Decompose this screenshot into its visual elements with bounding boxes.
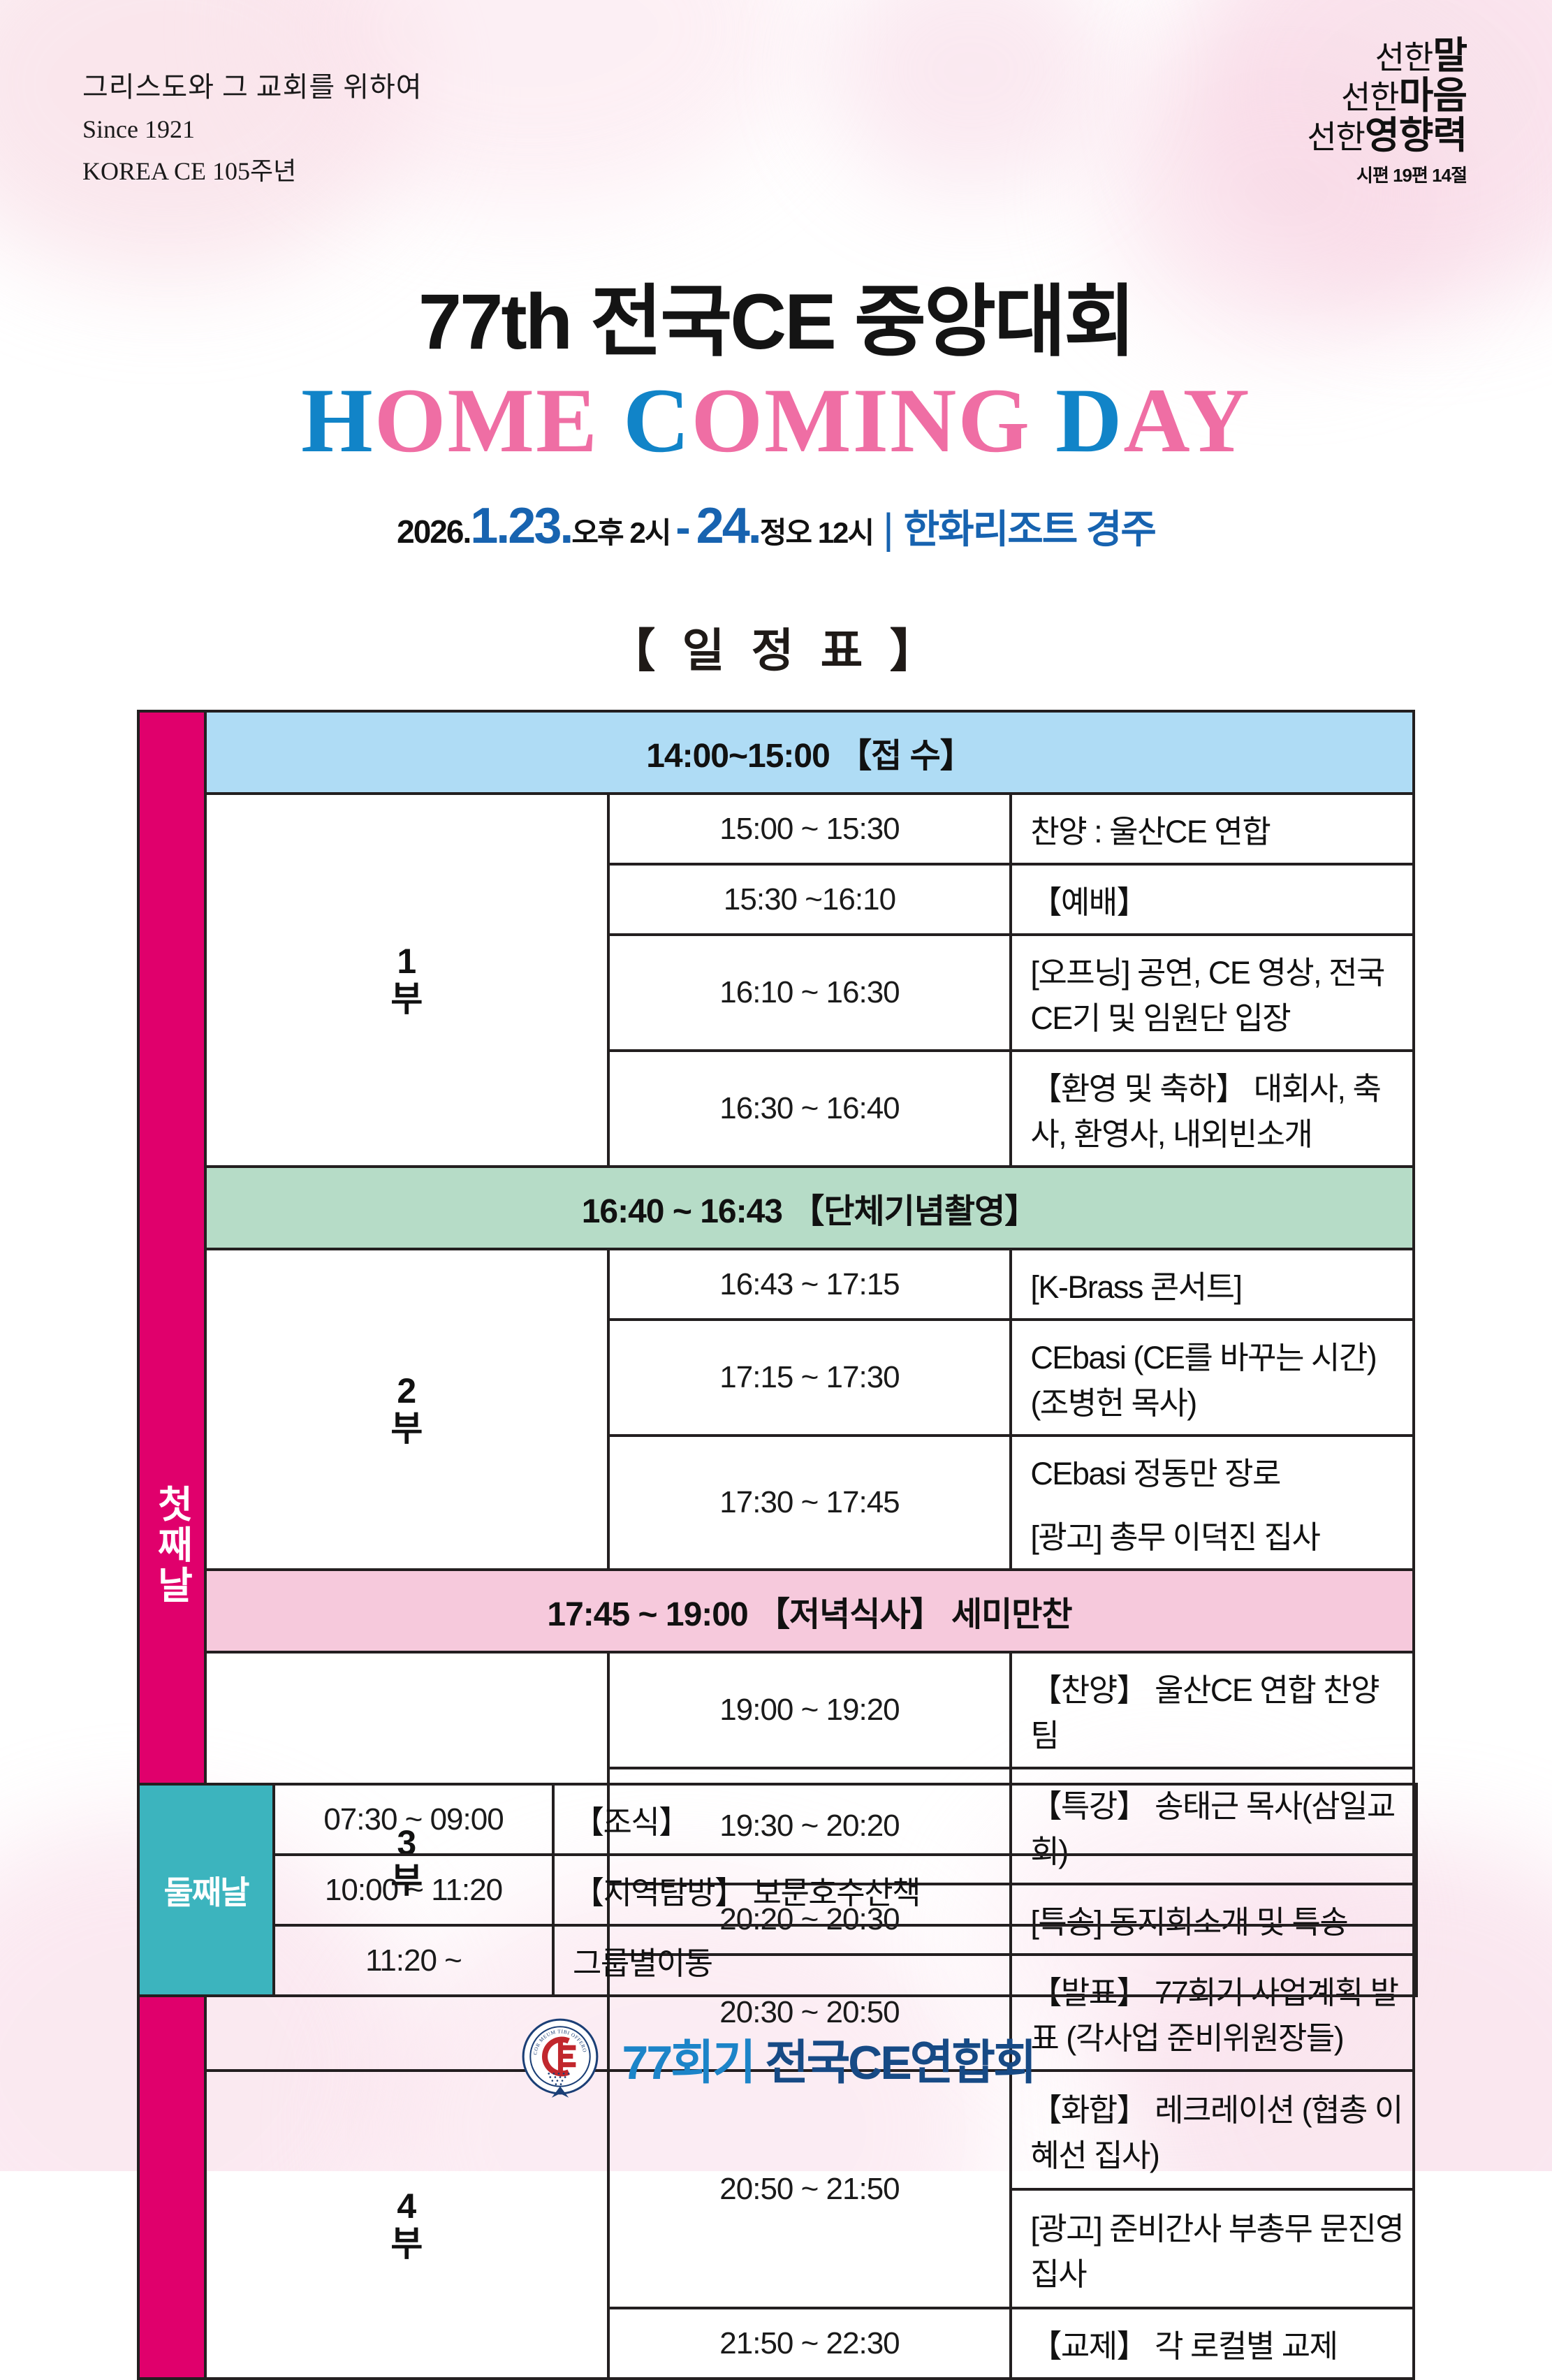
part-number: 1 — [207, 944, 607, 979]
verse-line-3: 선한영향력 — [1307, 116, 1467, 156]
schedule-row: 10:00 ~ 11:20【지역탐방】 보문호수산책 — [138, 1855, 1416, 1925]
row-body: 그룹별이동 — [553, 1925, 1416, 1996]
part-label-1: 1부 — [205, 794, 608, 1167]
day2-label: 둘째날 — [140, 1867, 272, 1913]
ce-emblem-icon: COR MEUM TIBI OFFERO DOMINE — [518, 2015, 603, 2101]
row-body: CEbasi 정동만 장로[광고] 총무 이덕진 집사 — [1011, 1436, 1414, 1570]
footer: COR MEUM TIBI OFFERO DOMINE 77회기 전국CE연합회 — [0, 2015, 1552, 2101]
verse-line-2: 선한마음 — [1307, 76, 1467, 116]
bible-reference: 시편 19편 14절 — [1307, 166, 1467, 186]
footer-org: 전국CE연합회 — [765, 2036, 1034, 2089]
row-body: 찬양 : 울산CE 연합 — [1011, 794, 1414, 864]
page-title: 77th 전국CE 중앙대회 — [0, 258, 1552, 372]
part-suffix: 부 — [207, 2226, 607, 2261]
verse-1-thin: 선한 — [1375, 39, 1433, 75]
band-photo-row: 16:40 ~ 16:43 【단체기념촬영】 — [138, 1167, 1414, 1249]
date-month: 1. — [470, 498, 508, 554]
date-separator: | — [883, 505, 894, 552]
verse-2-thin: 선한 — [1341, 79, 1399, 115]
date-dash: - — [675, 502, 690, 553]
schedule-row: 11:20 ~그룹별이동 — [138, 1925, 1416, 1996]
schedule-row: 1부15:00 ~ 15:30찬양 : 울산CE 연합 — [138, 794, 1414, 864]
header-right-block: 선한말 선한마음 선한영향력 시편 19편 14절 — [1307, 36, 1467, 185]
footer-session: 77회기 — [622, 2036, 766, 2089]
row-time: 21:50 ~ 22:30 — [608, 2308, 1011, 2379]
home-coming-day-title: HOME COMING DAY — [0, 367, 1552, 474]
hcd-segment-0: H — [301, 369, 374, 472]
organization-name: 77회기 전국CE연합회 — [622, 2024, 1035, 2093]
row-time: 17:30 ~ 17:45 — [608, 1436, 1011, 1570]
poster-page: 그리스도와 그 교회를 위하여 Since 1921 KOREA CE 105주… — [0, 0, 1552, 2171]
part-suffix: 부 — [207, 981, 607, 1016]
part-label-4: 4부 — [205, 2071, 608, 2379]
row-body: 【환영 및 축하】 대회사, 축사, 환영사, 내외빈소개 — [1011, 1051, 1414, 1167]
row-time: 20:50 ~ 21:50 — [608, 2071, 1011, 2308]
row-body: 【예배】 — [1011, 864, 1414, 935]
row-body: [K-Brass 콘서트] — [1011, 1249, 1414, 1320]
row-body: 【지역탐방】 보문호수산책 — [553, 1855, 1416, 1925]
row-body-line1: CEbasi 정동만 장로 — [1030, 1448, 1405, 1494]
hcd-segment-5: AY — [1123, 369, 1251, 472]
row-body: 【교제】 각 로컬별 교제 — [1011, 2308, 1414, 2379]
slogan-line: 그리스도와 그 교회를 위하여 — [82, 64, 423, 105]
schedule-row: 4부20:50 ~ 21:50【화합】 레크레이션 (협총 이혜선 집사)[광고… — [138, 2071, 1414, 2308]
band-dinner: 17:45 ~ 19:00 【저녁식사】 세미만찬 — [205, 1570, 1414, 1652]
hcd-segment-1: OME — [374, 369, 623, 472]
schedule-row: 둘째날07:30 ~ 09:00【조식】 — [138, 1784, 1416, 1855]
band-reception-row: 첫째날14:00~15:00 【접 수】 — [138, 711, 1414, 794]
band-dinner-row: 17:45 ~ 19:00 【저녁식사】 세미만찬 — [138, 1570, 1414, 1652]
day1-label-cell: 첫째날 — [138, 711, 205, 2379]
hcd-segment-4: D — [1055, 369, 1123, 472]
row-time: 16:30 ~ 16:40 — [608, 1051, 1011, 1167]
row-body-line2: [광고] 총무 이덕진 집사 — [1030, 1512, 1405, 1557]
time-end: 정오 12시 — [760, 516, 873, 549]
date-venue-line: 2026.1.23.오후 2시-24.정오 12시|한화리조트 경주 — [0, 497, 1552, 555]
row-body: CEbasi (CE를 바꾸는 시간)(조병헌 목사) — [1011, 1320, 1414, 1436]
band-reception: 14:00~15:00 【접 수】 — [205, 711, 1414, 794]
verse-3-bold: 영향력 — [1365, 115, 1467, 156]
anniversary-line: KOREA CE 105주년 — [82, 151, 423, 187]
row-time: 17:15 ~ 17:30 — [608, 1320, 1011, 1436]
venue-name: 한화리조트 경주 — [904, 507, 1155, 551]
row-body: [오프닝] 공연, CE 영상, 전국CE기 및 임원단 입장 — [1011, 935, 1414, 1051]
row-body: 【조식】 — [553, 1784, 1416, 1855]
day1-label: 첫째날 — [140, 1470, 204, 1620]
row-time: 16:43 ~ 17:15 — [608, 1249, 1011, 1320]
since-line: Since 1921 — [82, 115, 423, 144]
time-start: 오후 2시 — [571, 516, 670, 549]
row-time: 19:00 ~ 19:20 — [608, 1652, 1011, 1768]
hcd-segment-3: OMING — [691, 369, 1055, 472]
verse-3-thin: 선한 — [1307, 119, 1365, 155]
part-number: 2 — [207, 1373, 607, 1408]
schedule-table-day1: 첫째날14:00~15:00 【접 수】1부15:00 ~ 15:30찬양 : … — [137, 710, 1415, 2380]
date-day-start: 23. — [508, 498, 571, 554]
verse-2-bold: 마음 — [1399, 75, 1467, 117]
schedule-row: 2부16:43 ~ 17:15[K-Brass 콘서트] — [138, 1249, 1414, 1320]
part-label-2: 2부 — [205, 1249, 608, 1570]
date-day-end: 24. — [696, 498, 760, 554]
part-number: 4 — [207, 2189, 607, 2224]
date-year: 2026. — [397, 513, 470, 550]
row-time: 15:30 ~16:10 — [608, 864, 1011, 935]
row-time: 16:10 ~ 16:30 — [608, 935, 1011, 1051]
row-time: 15:00 ~ 15:30 — [608, 794, 1011, 864]
row-body: 【화합】 레크레이션 (협총 이혜선 집사)[광고] 준비간사 부총무 문진영 … — [1011, 2071, 1414, 2308]
row-body: 【찬양】 울산CE 연합 찬양팀 — [1011, 1652, 1414, 1768]
verse-line-1: 선한말 — [1307, 36, 1467, 76]
hcd-segment-2: C — [623, 369, 691, 472]
header-left-block: 그리스도와 그 교회를 위하여 Since 1921 KOREA CE 105주… — [82, 64, 423, 187]
part-suffix: 부 — [207, 1411, 607, 1446]
day2-label-cell: 둘째날 — [138, 1784, 274, 1996]
schedule-heading: 【 일 정 표 】 — [0, 613, 1552, 680]
band-photo: 16:40 ~ 16:43 【단체기념촬영】 — [205, 1167, 1414, 1249]
schedule-table-day2: 둘째날07:30 ~ 09:00【조식】10:00 ~ 11:20【지역탐방】 … — [137, 1783, 1418, 1997]
schedule-row: 3부19:00 ~ 19:20【찬양】 울산CE 연합 찬양팀 — [138, 1652, 1414, 1768]
verse-1-bold: 말 — [1433, 35, 1467, 77]
row-time: 10:00 ~ 11:20 — [274, 1855, 553, 1925]
row-time: 07:30 ~ 09:00 — [274, 1784, 553, 1855]
row-body-line2: [광고] 준비간사 부총무 문진영 집사 — [1012, 2191, 1412, 2307]
row-time: 11:20 ~ — [274, 1925, 553, 1996]
